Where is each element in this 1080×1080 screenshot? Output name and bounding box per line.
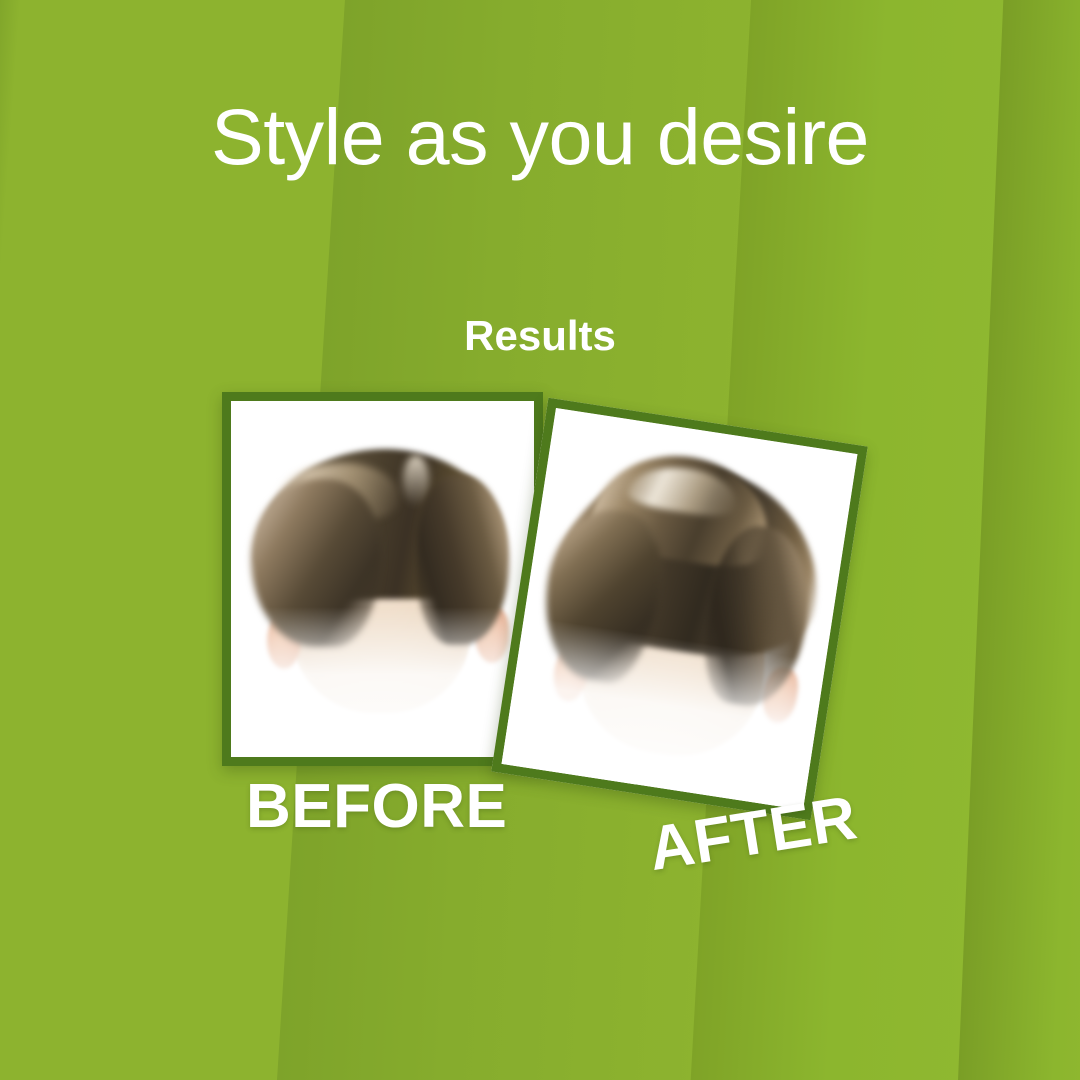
promo-poster: Style as you desire Results	[0, 0, 1080, 1080]
results-heading: Results	[0, 312, 1080, 360]
before-photo	[231, 401, 534, 757]
after-photo-card[interactable]	[491, 398, 867, 821]
page-title: Style as you desire	[0, 96, 1080, 179]
before-photo-card[interactable]	[222, 392, 543, 766]
before-label: BEFORE	[246, 771, 507, 842]
after-photo	[502, 408, 858, 810]
before-photo-fade	[231, 607, 534, 757]
